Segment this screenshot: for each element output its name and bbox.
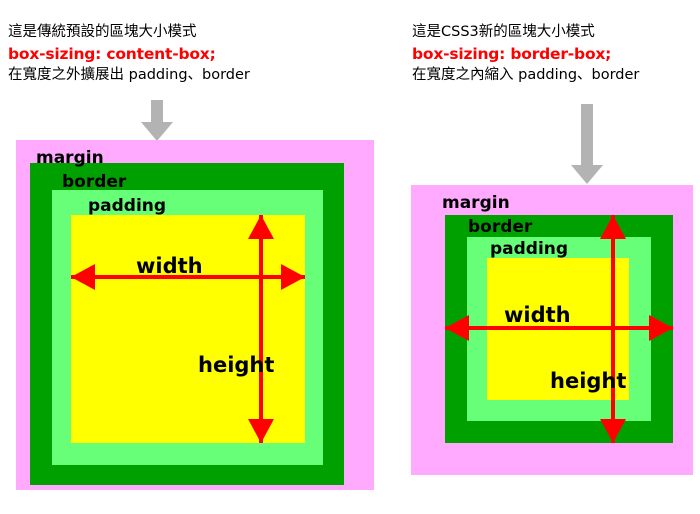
height-measure-arrow	[243, 215, 279, 443]
caption-line-3: 在寬度之內縮入 padding、border	[412, 65, 639, 86]
caption-line-3: 在寬度之外擴展出 padding、border	[8, 65, 250, 86]
arrow-head-left	[445, 315, 469, 341]
arrow-head-top	[600, 215, 626, 239]
arrow-line	[259, 215, 263, 443]
arrow-head-bottom	[248, 419, 274, 443]
label-width: width	[136, 254, 203, 278]
label-padding: padding	[490, 239, 568, 259]
arrow-head	[141, 122, 173, 141]
arrow-head-top	[248, 215, 274, 239]
down-arrow-icon	[141, 100, 173, 141]
label-margin: margin	[442, 193, 510, 213]
label-height: height	[198, 353, 274, 377]
arrow-head-right	[281, 264, 305, 290]
arrow-head-left	[71, 264, 95, 290]
arrow-head	[571, 165, 603, 184]
arrow-head-right	[649, 315, 673, 341]
caption-line-1: 這是CSS3新的區塊大小模式	[412, 22, 639, 43]
label-padding: padding	[88, 196, 166, 216]
arrow-head-bottom	[600, 419, 626, 443]
caption-line-1: 這是傳統預設的區塊大小模式	[8, 22, 250, 43]
arrow-shaft	[581, 104, 593, 167]
label-margin: margin	[36, 148, 104, 168]
down-arrow-icon	[571, 104, 603, 185]
label-width: width	[504, 303, 571, 327]
arrow-line	[611, 215, 615, 443]
caption-code-line: box-sizing: border-box;	[412, 43, 639, 65]
label-border: border	[468, 217, 532, 237]
height-measure-arrow	[595, 215, 631, 443]
label-border: border	[62, 172, 126, 192]
label-height: height	[550, 369, 626, 393]
caption-code-line: box-sizing: content-box;	[8, 43, 250, 65]
caption-border-box: 這是CSS3新的區塊大小模式 box-sizing: border-box; 在…	[412, 22, 639, 87]
arrow-shaft	[151, 100, 163, 124]
caption-content-box: 這是傳統預設的區塊大小模式 box-sizing: content-box; 在…	[8, 22, 250, 87]
